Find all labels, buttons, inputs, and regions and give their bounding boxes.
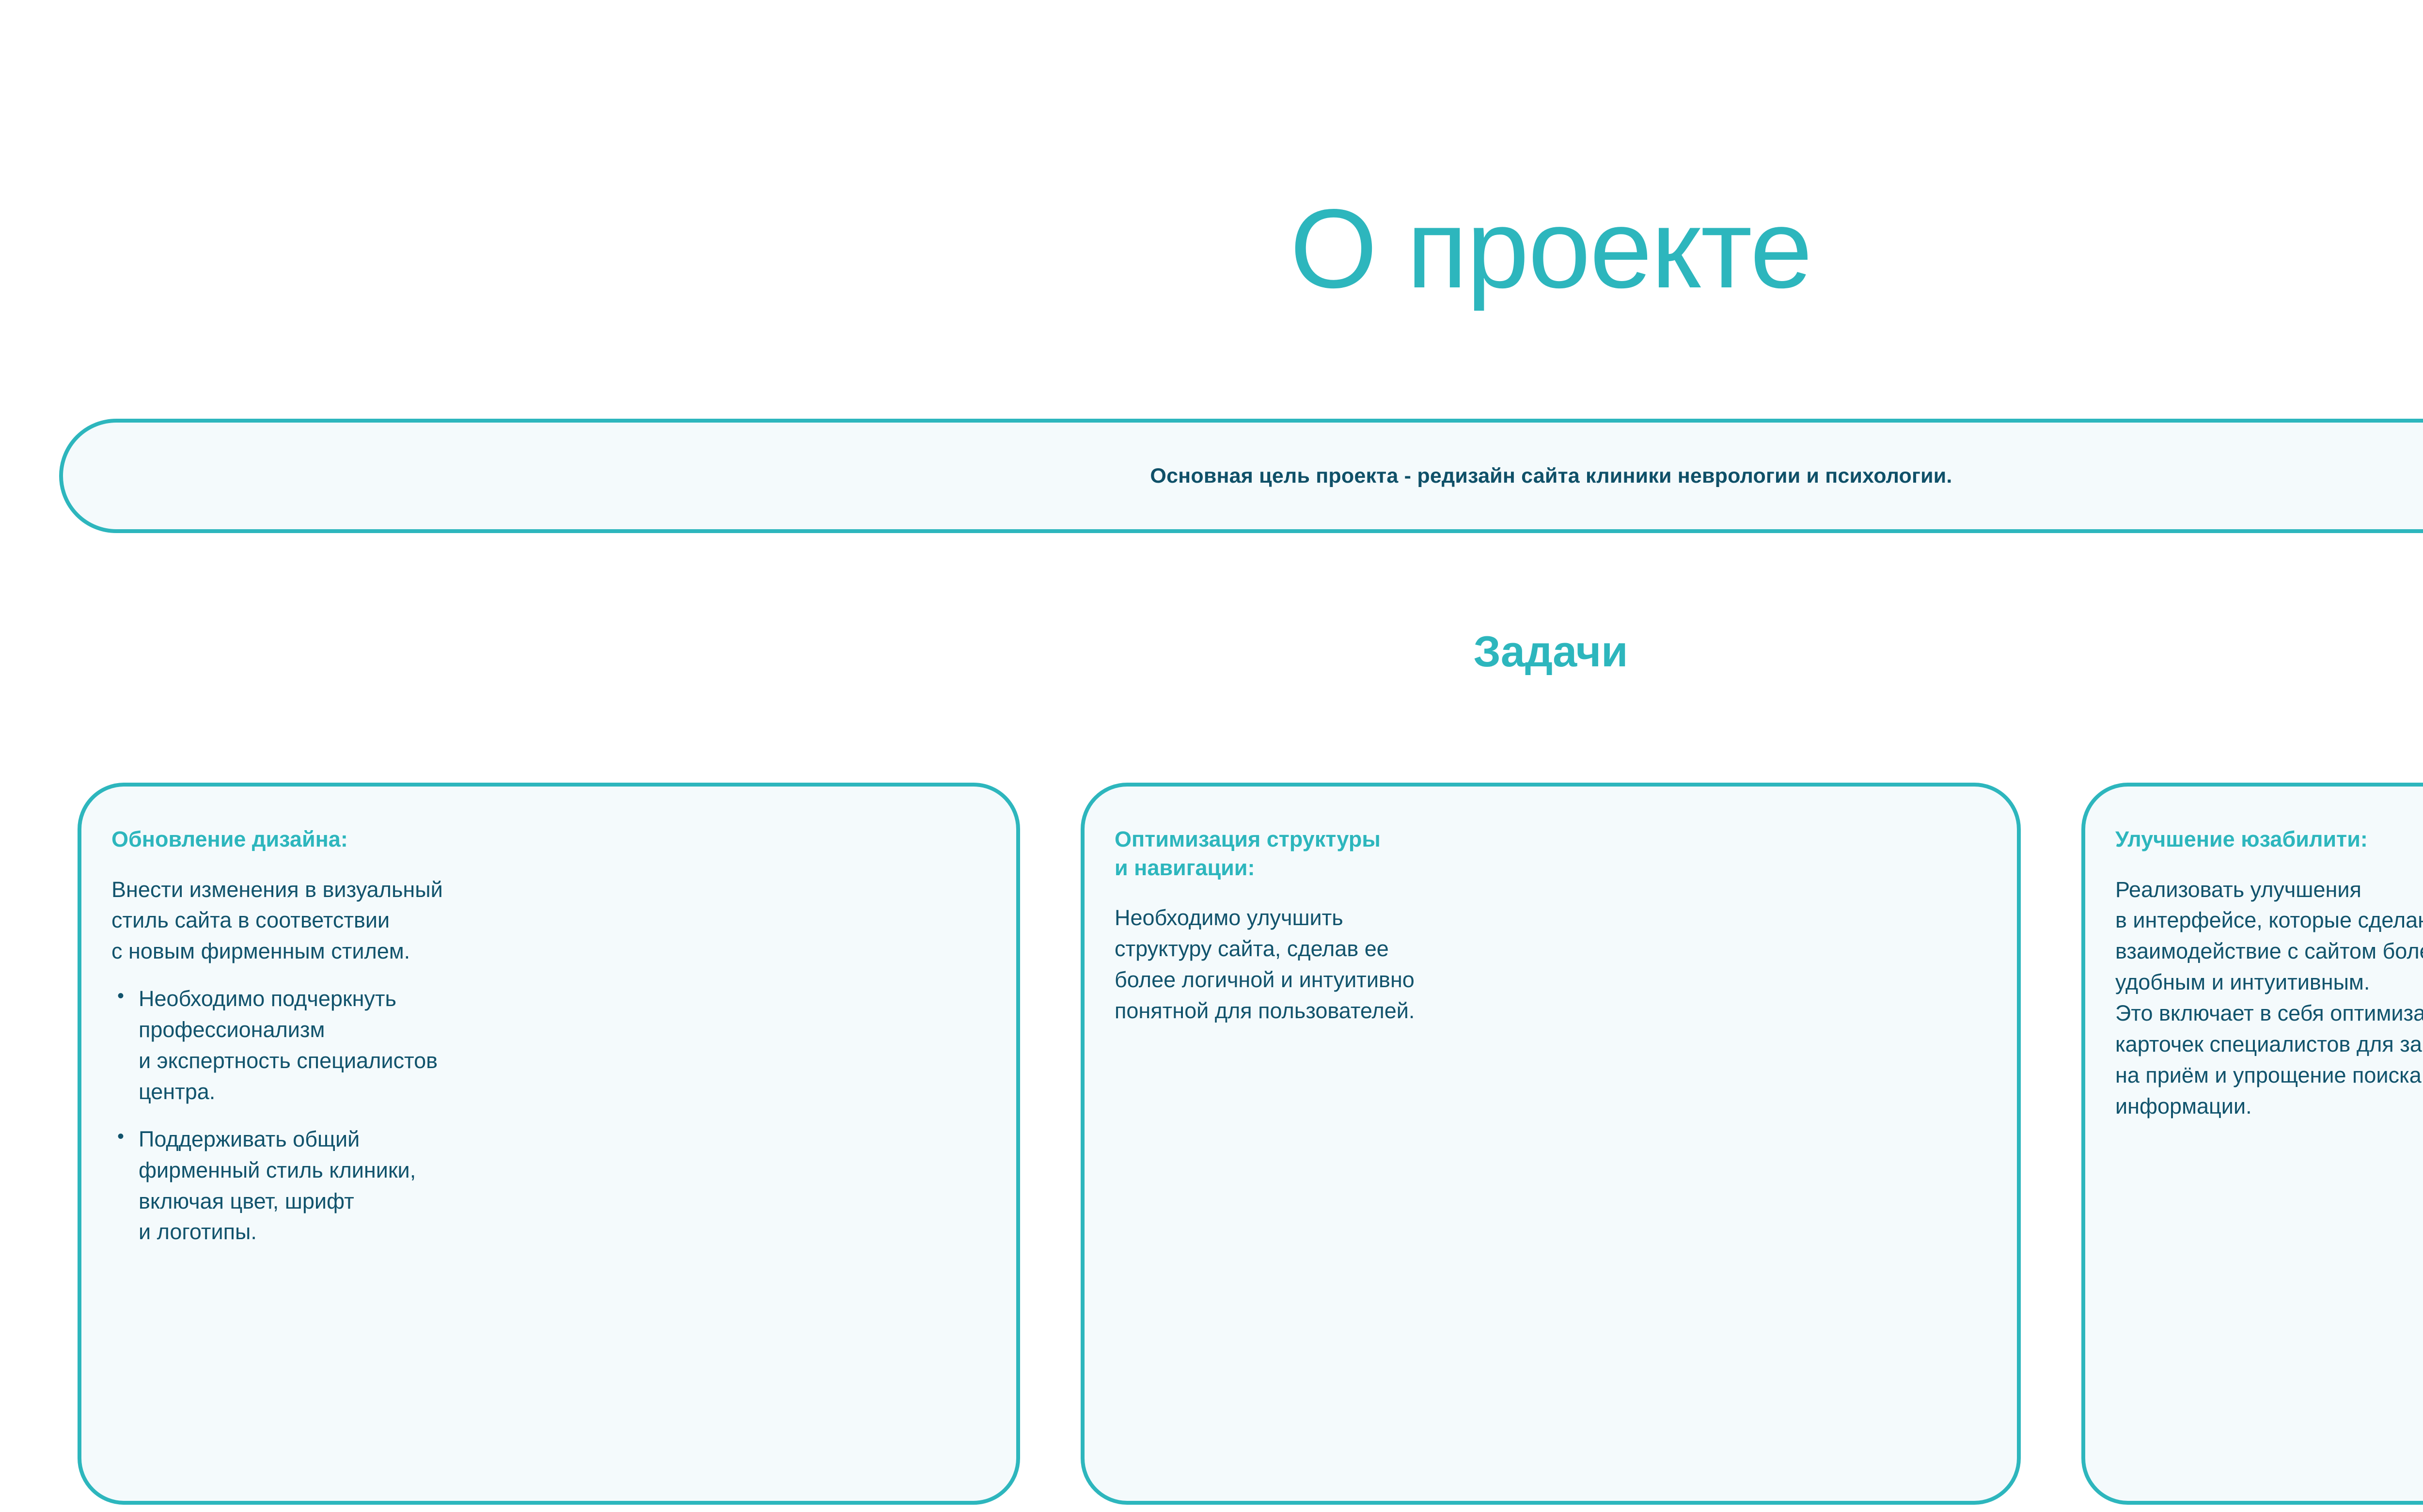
task-card-bullet: Поддерживать общий фирменный стиль клини… <box>111 1124 986 1248</box>
task-card-structure-navigation: Оптимизация структуры и навигации: Необх… <box>1081 783 2021 1505</box>
goal-banner-text: Основная цель проекта - редизайн сайта к… <box>1150 464 1952 488</box>
tasks-section-heading: Задачи <box>0 630 2423 674</box>
task-card-body: Необходимо улучшить структуру сайта, сде… <box>1115 902 1987 1026</box>
task-card-title: Обновление дизайна: <box>111 825 986 854</box>
task-card-title: Оптимизация структуры и навигации: <box>1115 825 1987 882</box>
page-title: О проекте <box>0 193 2423 305</box>
task-card-body: Внести изменения в визуальный стиль сайт… <box>111 874 986 967</box>
task-cards-row: Обновление дизайна: Внести изменения в в… <box>0 783 2423 1509</box>
task-card-usability-improvement: Улучшение юзабилити: Реализовать улучшен… <box>2081 783 2423 1505</box>
task-card-bullet-list: Необходимо подчеркнуть профессионализм и… <box>111 983 986 1247</box>
goal-banner: Основная цель проекта - редизайн сайта к… <box>59 419 2423 533</box>
task-card-title: Улучшение юзабилити: <box>2115 825 2423 854</box>
task-card-design-update: Обновление дизайна: Внести изменения в в… <box>78 783 1020 1505</box>
task-card-bullet: Необходимо подчеркнуть профессионализм и… <box>111 983 986 1107</box>
task-card-body: Реализовать улучшения в интерфейсе, кото… <box>2115 874 2423 1122</box>
